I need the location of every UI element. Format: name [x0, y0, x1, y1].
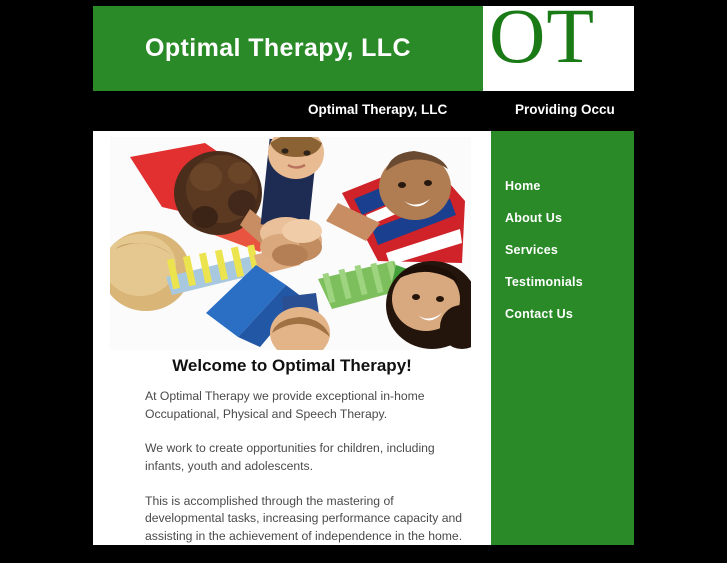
sidebar-item-testimonials[interactable]: Testimonials [505, 275, 583, 289]
sidebar-item-contact-us[interactable]: Contact Us [505, 307, 573, 321]
tagline-description: Providing Occu [515, 102, 615, 117]
sidebar-item-home[interactable]: Home [505, 179, 541, 193]
paragraph-1: At Optimal Therapy we provide exceptiona… [145, 388, 475, 423]
content-area: Welcome to Optimal Therapy! At Optimal T… [93, 131, 634, 545]
hero-photo-illustration [110, 137, 471, 350]
tagline-company-name: Optimal Therapy, LLC [308, 102, 447, 117]
ot-logo-text: OT [489, 6, 595, 75]
hero-photo [110, 137, 471, 350]
page-title: Welcome to Optimal Therapy! [93, 356, 491, 376]
site-title: Optimal Therapy, LLC [145, 34, 411, 63]
sidebar-item-services[interactable]: Services [505, 243, 558, 257]
paragraph-3: This is accomplished through the masteri… [145, 493, 475, 546]
paragraph-2: We work to create opportunities for chil… [145, 440, 475, 475]
page-root: Optimal Therapy, LLC OT Optimal Therapy,… [0, 0, 727, 545]
site-header: Optimal Therapy, LLC OT [93, 6, 634, 91]
logo-box: OT [483, 6, 634, 91]
main-column: Welcome to Optimal Therapy! At Optimal T… [93, 131, 491, 545]
sidebar-nav: Home About Us Services Testimonials Cont… [491, 131, 634, 545]
body-copy: At Optimal Therapy we provide exceptiona… [145, 388, 475, 563]
sidebar-item-about-us[interactable]: About Us [505, 211, 562, 225]
tagline-strip: Optimal Therapy, LLC Providing Occu [93, 91, 634, 131]
